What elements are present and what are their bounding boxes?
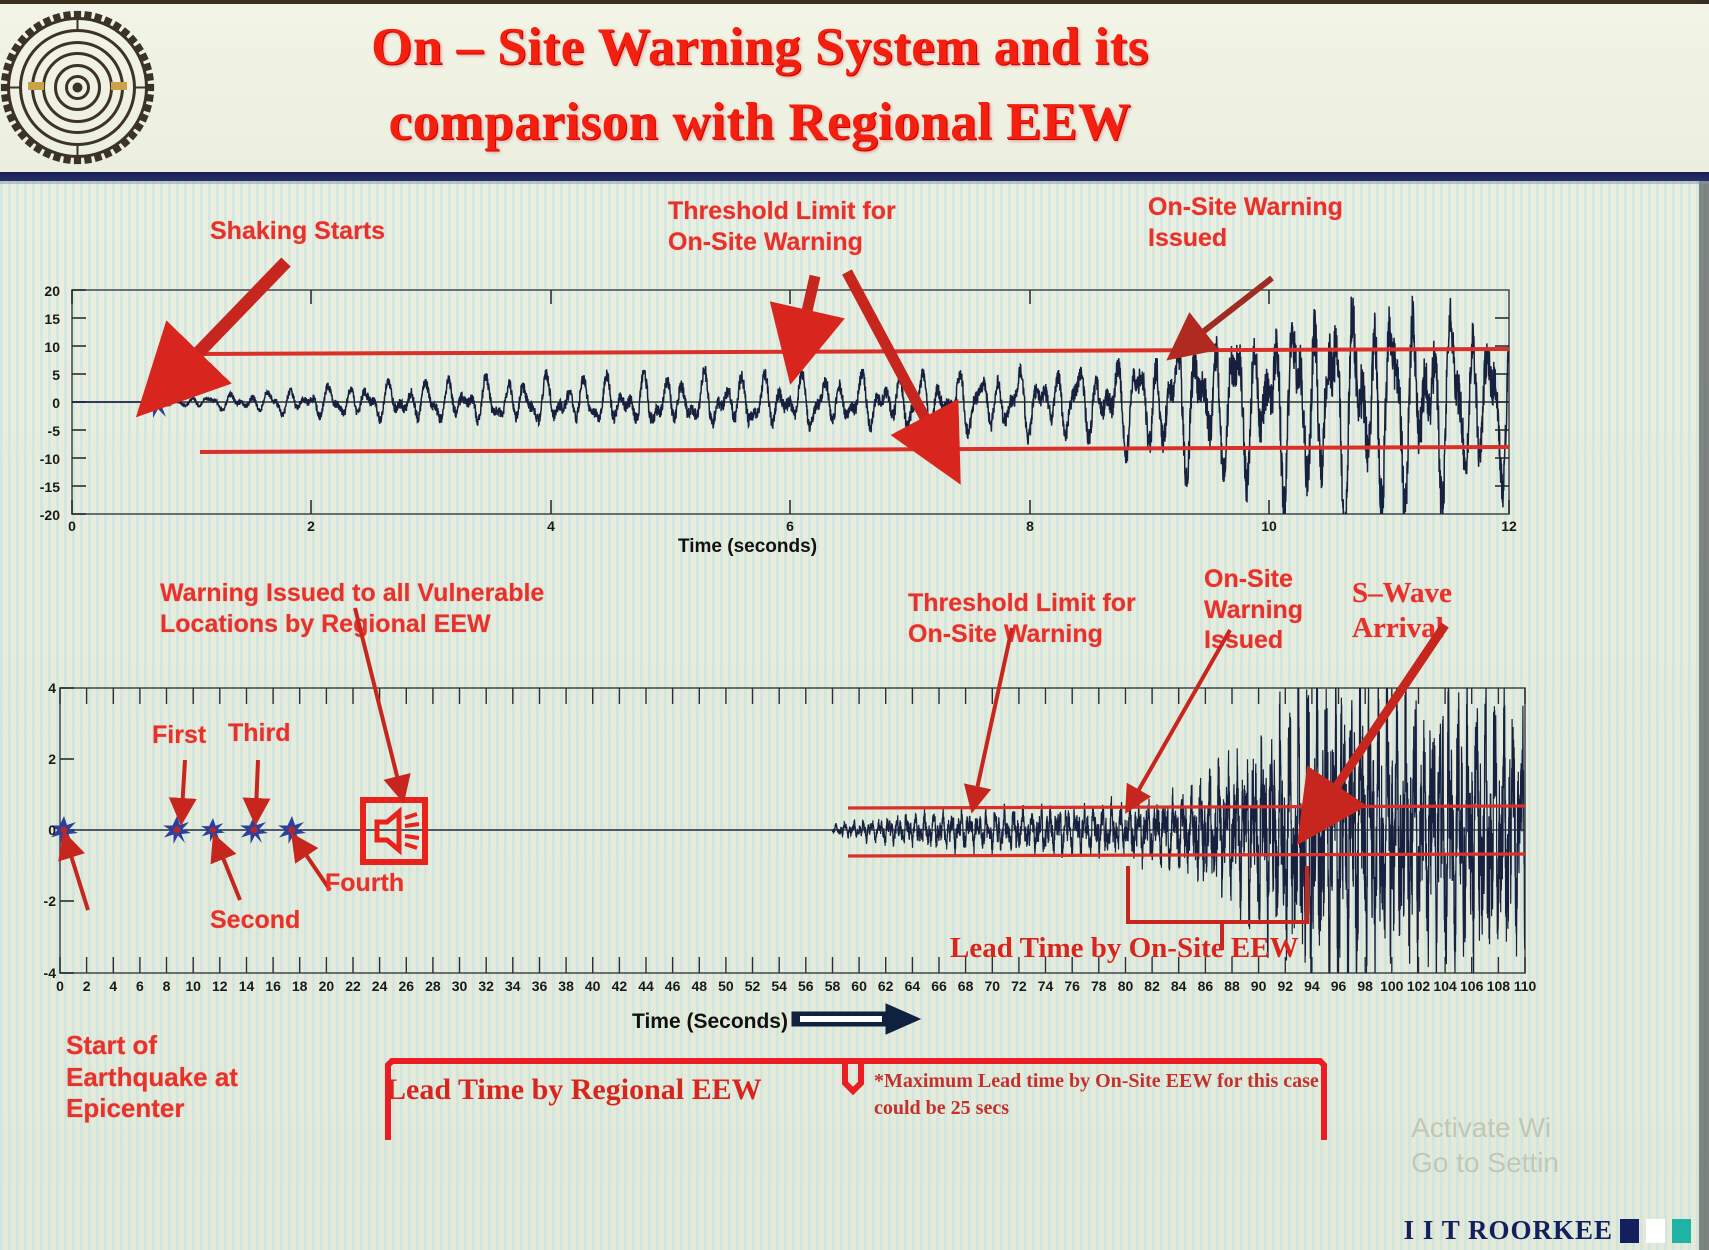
arrow-onsite-warning-top — [1190, 278, 1272, 342]
label-lead-time-onsite: Lead Time by On-Site EEW — [950, 932, 1299, 965]
top-ytick-0: 0 — [26, 395, 60, 411]
top-chart-svg — [0, 184, 1709, 564]
arrow-third — [256, 760, 258, 810]
arrow-first — [182, 760, 185, 810]
annotation-threshold-limit-bottom: Threshold Limit for On-Site Warning — [908, 588, 1136, 649]
top-threshold-line-lower — [200, 447, 1509, 452]
footnote-max-lead-time: *Maximum Lead time by On-Site EEW for th… — [874, 1068, 1319, 1122]
top-ytick--20: -20 — [26, 507, 60, 523]
top-ytick--15: -15 — [26, 479, 60, 495]
bottom-ytick-2: 2 — [22, 751, 56, 767]
top-ytick-15: 15 — [26, 311, 60, 327]
top-xtick-8: 8 — [1018, 518, 1042, 534]
footer-swatch-2 — [1646, 1219, 1665, 1243]
iit-roorkee-seal-icon — [0, 10, 155, 165]
page-title-line1: On – Site Warning System and its — [150, 10, 1370, 85]
header-divider — [0, 172, 1709, 181]
bottom-threshold-line-upper — [848, 806, 1525, 808]
bottom-xtick-110: 110 — [1509, 978, 1541, 994]
arrow-second — [219, 848, 240, 900]
bottom-ytick-4: 4 — [22, 680, 56, 696]
bottom-ytick-0: 0 — [22, 822, 56, 838]
label-first: First — [152, 720, 206, 751]
top-accelerogram-chart: Shaking Starts Threshold Limit for On-Si… — [0, 184, 1709, 564]
institute-footer: I I T ROORKEE — [1404, 1215, 1691, 1246]
footer-swatch-3 — [1672, 1219, 1691, 1243]
label-lead-time-regional: Lead Time by Regional EEW — [386, 1073, 762, 1107]
label-start-of-earthquake: Start of Earthquake at Epicenter — [66, 1030, 238, 1125]
top-ytick--5: -5 — [26, 423, 60, 439]
page-title-line2: comparison with Regional EEW — [150, 85, 1370, 160]
top-ytick-5: 5 — [26, 367, 60, 383]
slide-canvas: On – Site Warning System and its compari… — [0, 0, 1709, 1250]
label-fourth: Fourth — [325, 868, 404, 899]
arrow-onsite-warning-bottom — [1133, 630, 1230, 800]
windows-activation-watermark: Activate Wi Go to Settin — [1411, 1110, 1559, 1180]
bottom-threshold-line-lower — [848, 854, 1525, 856]
arrow-threshold-upper — [800, 276, 815, 342]
label-second: Second — [210, 905, 300, 936]
arrow-shaking-starts — [172, 262, 286, 380]
arrow-threshold-bottom — [975, 628, 1012, 798]
institute-name: I I T ROORKEE — [1404, 1215, 1613, 1246]
top-xtick-0: 0 — [60, 518, 84, 534]
top-xtick-4: 4 — [539, 518, 563, 534]
footer-swatch-1 — [1620, 1219, 1639, 1243]
top-xtick-10: 10 — [1257, 518, 1281, 534]
top-ytick--10: -10 — [26, 451, 60, 467]
page-title: On – Site Warning System and its compari… — [150, 10, 1370, 161]
annotation-onsite-warning-issued-bottom: On-Site Warning Issued — [1204, 564, 1303, 656]
shaking-start-marker — [142, 388, 172, 418]
top-ytick-20: 20 — [26, 283, 60, 299]
top-xtick-6: 6 — [778, 518, 802, 534]
top-xtick-2: 2 — [299, 518, 323, 534]
slide-header: On – Site Warning System and its compari… — [0, 4, 1709, 172]
top-xtick-12: 12 — [1497, 518, 1521, 534]
label-third: Third — [228, 718, 291, 749]
top-ytick-10: 10 — [26, 339, 60, 355]
bracket-lead-time-regional-tick — [845, 1061, 861, 1091]
top-xaxis-title: Time (seconds) — [678, 536, 817, 558]
bottom-ytick--2: -2 — [22, 893, 56, 909]
regional-warning-speaker-icon — [363, 800, 425, 862]
annotation-regional-warning: Warning Issued to all Vulnerable Locatio… — [160, 578, 544, 639]
